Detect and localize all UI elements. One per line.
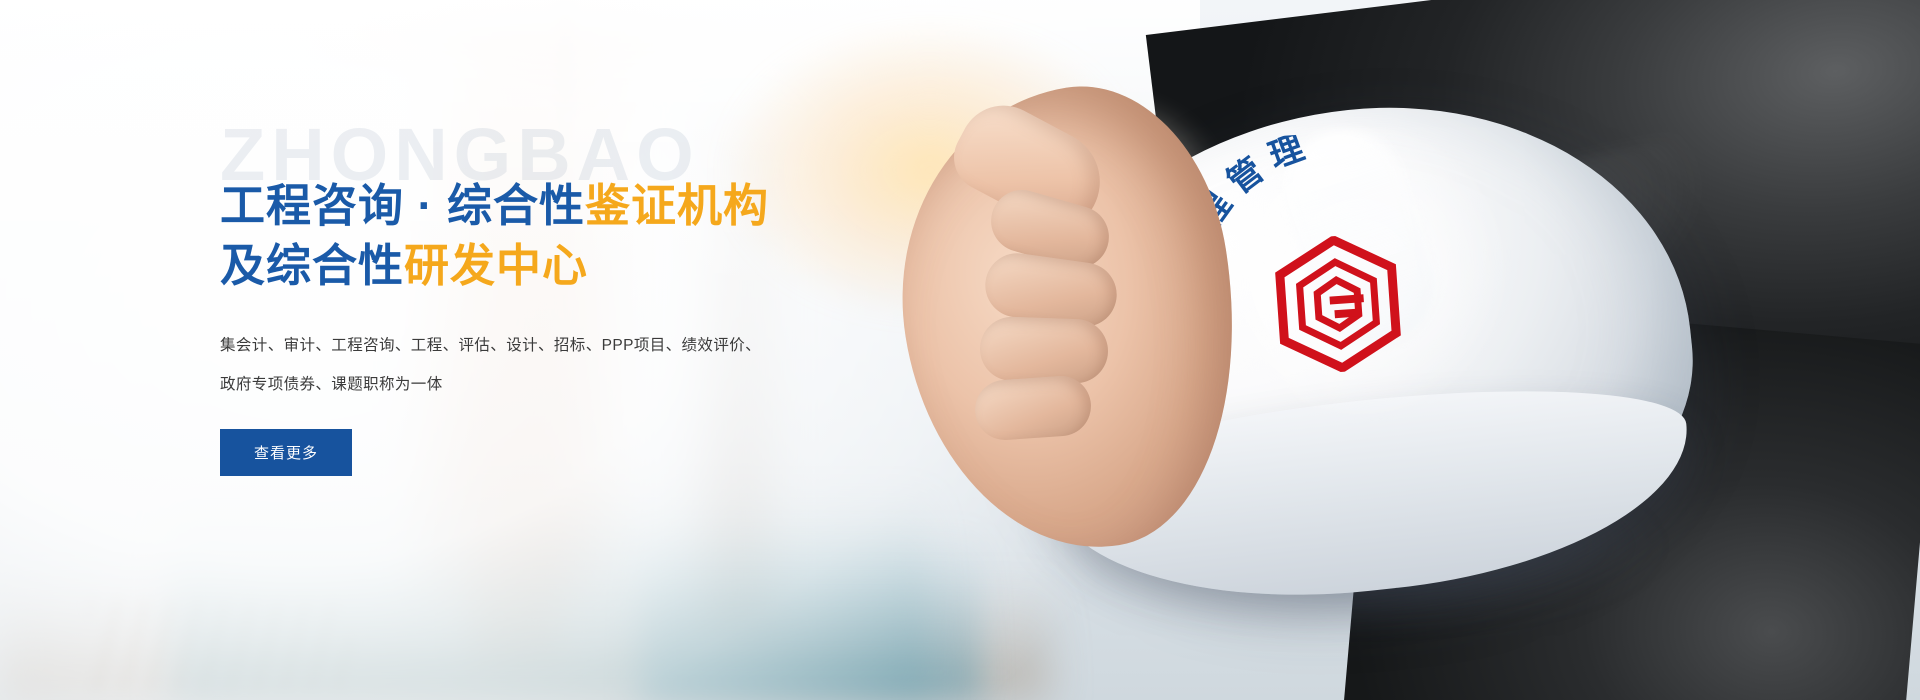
headline-line-1-primary: 工程咨询 · 综合性 (220, 180, 585, 231)
headline-line-2: 及综合性研发中心 (220, 236, 1080, 296)
description-line-1: 集会计、审计、工程咨询、工程、评估、设计、招标、PPP项目、绩效评价、 (220, 326, 1080, 366)
description-line-2: 政府专项债券、课题职称为一体 (220, 365, 1080, 405)
headline-line-2-accent: 研发中心 (404, 240, 588, 291)
hexagon-logo-icon (1271, 232, 1404, 376)
hero-banner: 中宝工程管理 ZHONGBAO 工程咨询 · 综合性鉴证机构 (0, 0, 1920, 700)
view-more-button[interactable]: 查看更多 (220, 429, 352, 476)
hero-description: 集会计、审计、工程咨询、工程、评估、设计、招标、PPP项目、绩效评价、 政府专项… (220, 326, 1080, 405)
hero-headline: 工程咨询 · 综合性鉴证机构 及综合性研发中心 (220, 176, 1080, 296)
headline-line-2-primary: 及综合性 (220, 240, 404, 291)
headline-line-1-accent: 鉴证机构 (585, 180, 769, 231)
headline-line-1: 工程咨询 · 综合性鉴证机构 (220, 176, 1080, 236)
hero-content: ZHONGBAO 工程咨询 · 综合性鉴证机构 及综合性研发中心 集会计、审计、… (220, 118, 1080, 476)
